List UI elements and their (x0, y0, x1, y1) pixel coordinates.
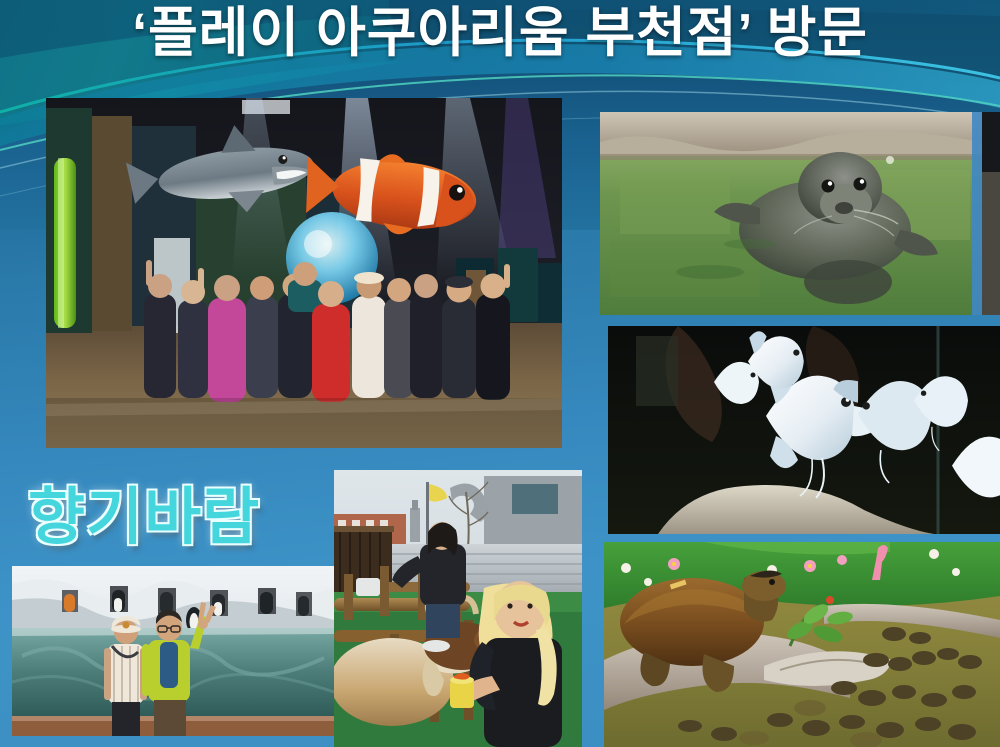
goat-feeding-photo (334, 470, 582, 747)
angelfish-tank-photo (608, 326, 1000, 534)
slide-canvas: ‘플레이 아쿠아리움 부천점’ 방문 (0, 0, 1000, 747)
page-title: ‘플레이 아쿠아리움 부천점’ 방문 (0, 2, 1000, 64)
penguin-exhibit-couple-photo (12, 566, 334, 736)
group-brand-label: 향기바람 (28, 466, 260, 556)
seal-swimming-photo (600, 112, 1000, 315)
tortoise-pond-photo (604, 542, 1000, 747)
group-photo-aquarium-lobby (46, 98, 562, 448)
